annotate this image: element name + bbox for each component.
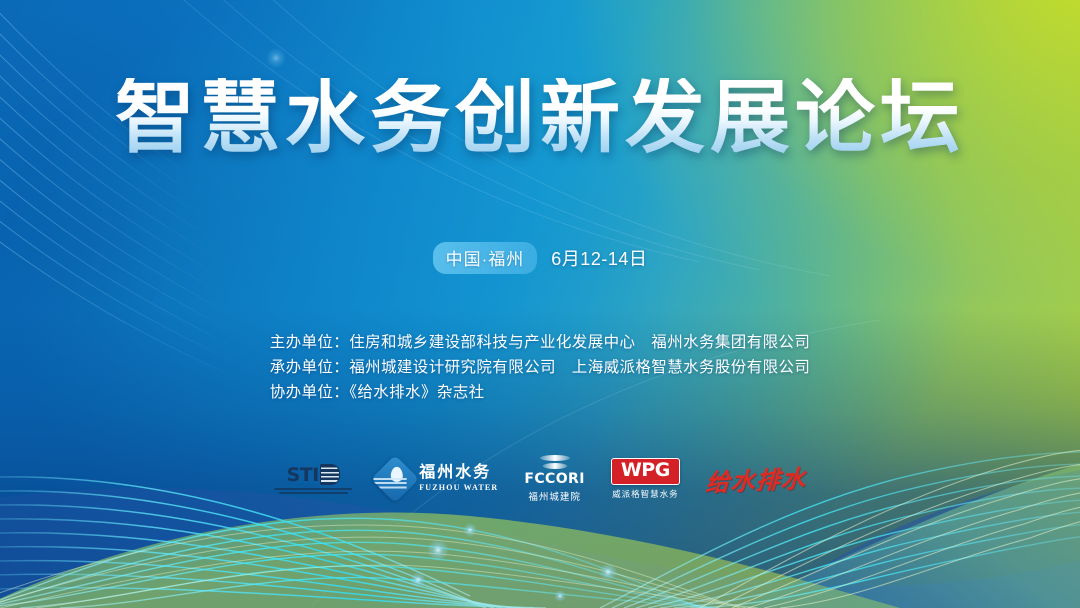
stid-mark-icon: STI bbox=[287, 464, 340, 486]
logo-stid: STI bbox=[274, 454, 352, 504]
fuzhou-water-text: 福州水务 FUZHOU WATER bbox=[419, 465, 498, 492]
water-drop-icon bbox=[371, 455, 419, 503]
logo-fccori: FCCORI 福州城建院 bbox=[524, 454, 584, 504]
event-location-badge: 中国·福州 bbox=[433, 242, 538, 274]
stid-subtext-line-2 bbox=[279, 492, 348, 494]
fccori-name-cn: 福州城建院 bbox=[528, 489, 581, 503]
event-date: 6月12-14日 bbox=[551, 245, 647, 271]
poster-content: 智慧水务创新发展论坛 中国·福州 6月12-14日 主办单位：住房和城乡建设部科… bbox=[0, 0, 1080, 608]
sponsor-logo-row: STI 福州水务 FUZHOU WATER bbox=[274, 453, 806, 505]
organizer-line-host: 主办单位：住房和城乡建设部科技与产业化发展中心 福州水务集团有限公司 bbox=[270, 330, 811, 355]
stid-subtext-lines bbox=[274, 488, 352, 495]
jishui-paishui-name-cn: 给水排水 bbox=[705, 459, 808, 498]
poster-canvas: 智慧水务创新发展论坛 中国·福州 6月12-14日 主办单位：住房和城乡建设部科… bbox=[0, 0, 1080, 608]
organizer-line-coordinator: 承办单位：福州城建设计研究院有限公司 上海威派格智慧水务股份有限公司 bbox=[270, 355, 811, 380]
wpg-name-cn: 威派格智慧水务 bbox=[612, 488, 679, 500]
stid-subtext-line-1 bbox=[274, 488, 352, 490]
fuzhou-water-name-en: FUZHOU WATER bbox=[419, 484, 498, 492]
wpg-badge: WPG bbox=[611, 458, 680, 485]
fccori-name-en: FCCORI bbox=[524, 471, 584, 487]
fccori-arc-bottom bbox=[542, 463, 567, 469]
organizer-line-support: 协办单位：《给水排水》杂志社 bbox=[270, 380, 811, 405]
subtitle-row: 中国·福州 6月12-14日 bbox=[433, 242, 648, 274]
page-title: 智慧水务创新发展论坛 bbox=[115, 78, 965, 158]
fuzhou-water-name-cn: 福州水务 bbox=[419, 465, 498, 481]
stid-letters: STI bbox=[287, 464, 319, 486]
stid-d-icon bbox=[320, 464, 340, 485]
logo-wpg: WPG 威派格智慧水务 bbox=[611, 454, 680, 504]
fccori-swoosh-icon bbox=[540, 455, 570, 469]
fccori-arc-top bbox=[540, 455, 570, 461]
logo-jishui-paishui: 给水排水 bbox=[706, 454, 806, 504]
wpg-name-en: WPG bbox=[621, 459, 670, 481]
logo-fuzhou-water: 福州水务 FUZHOU WATER bbox=[378, 454, 498, 504]
organizer-block: 主办单位：住房和城乡建设部科技与产业化发展中心 福州水务集团有限公司 承办单位：… bbox=[270, 330, 811, 405]
